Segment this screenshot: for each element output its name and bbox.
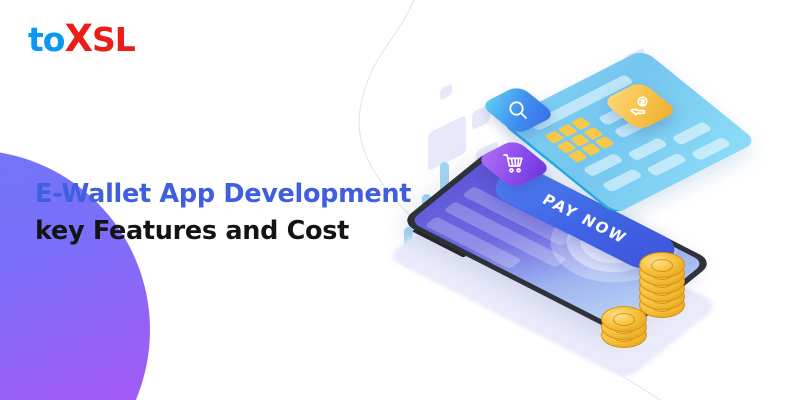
card-stripe	[671, 121, 713, 145]
banner-root: toXSL E-Wallet App Development key Featu…	[0, 0, 800, 400]
coin	[639, 252, 685, 278]
coin	[601, 306, 647, 332]
card-stripe	[601, 168, 643, 192]
card-stripe	[646, 153, 688, 177]
card-stripe	[627, 137, 669, 161]
card-stripe	[690, 137, 732, 161]
hero-illustration: PAY NOW	[0, 0, 800, 400]
